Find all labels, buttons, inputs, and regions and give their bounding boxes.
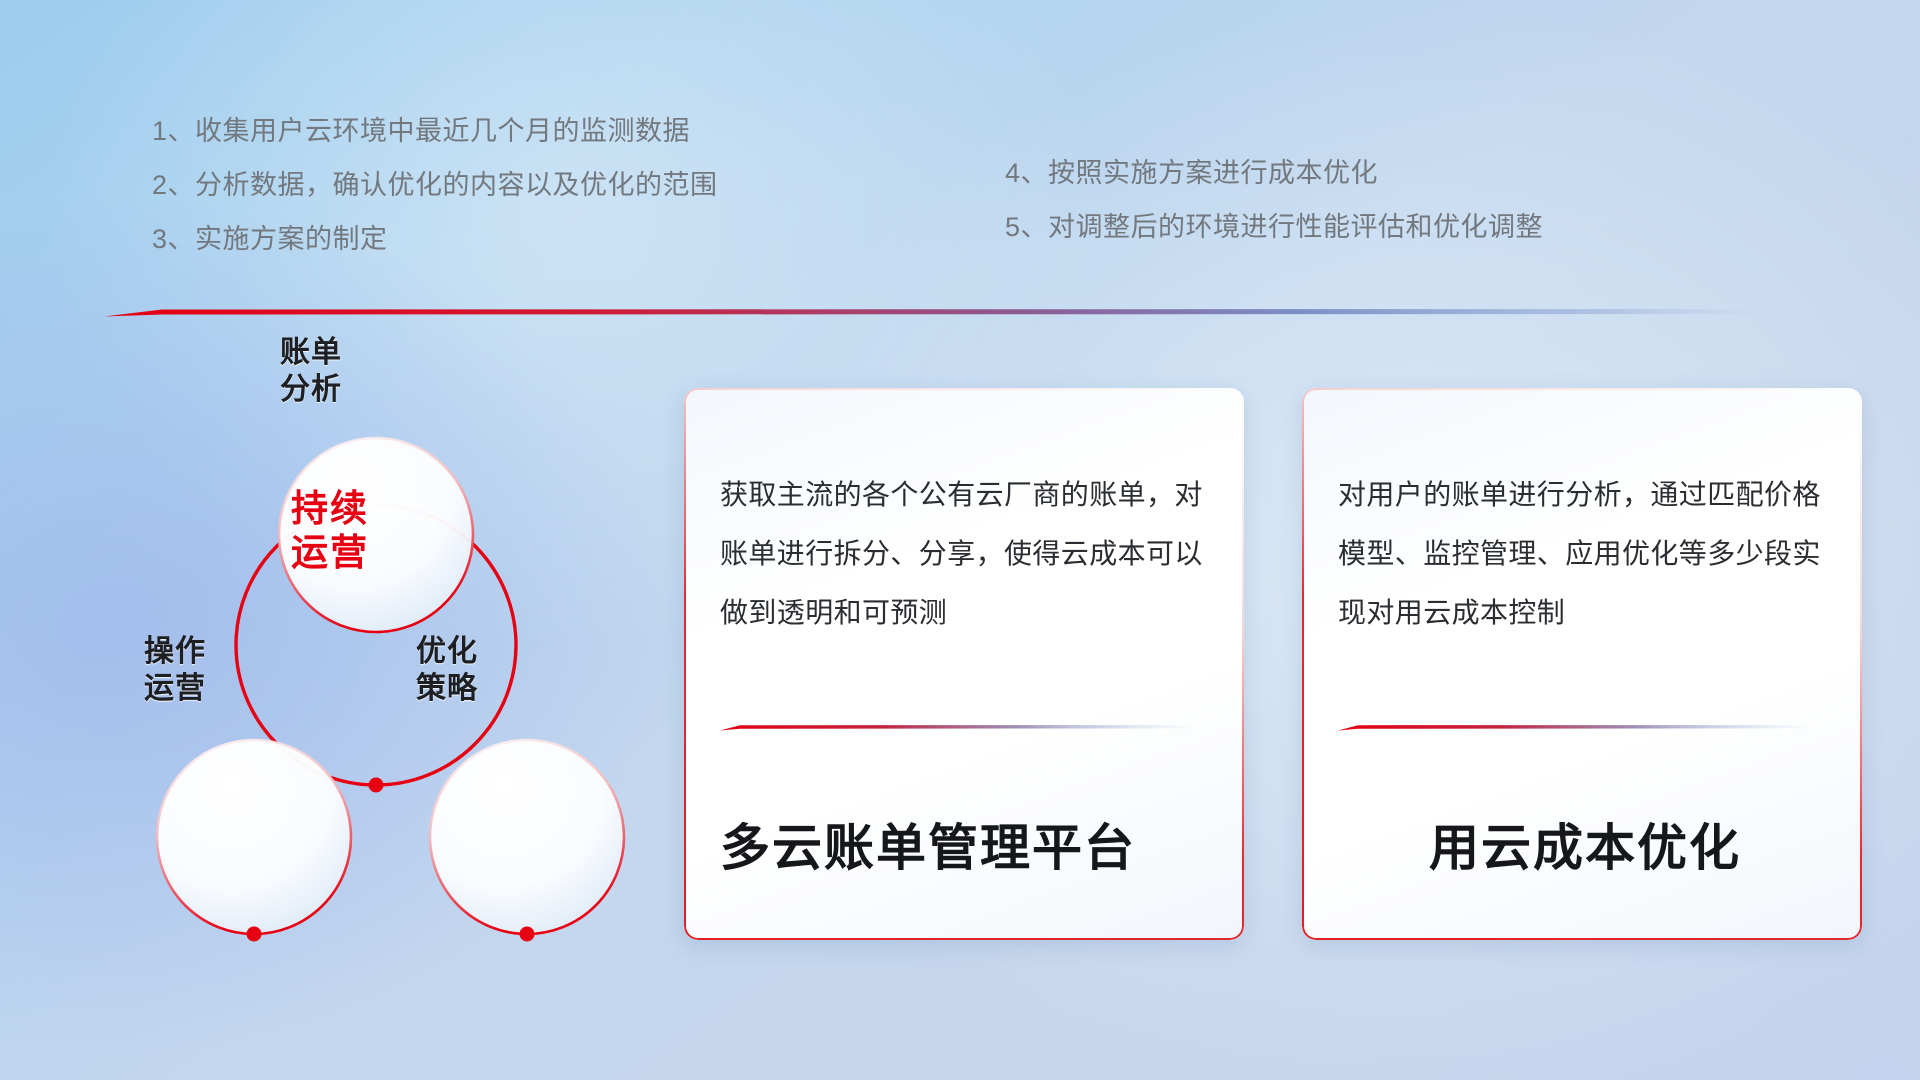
venn-center-label: 持续 运营 [250,487,410,576]
card-1-body-text: 获取主流的各个公有云厂商的账单，对账单进行拆分、分享，使得云成本可以做到透明和可… [720,466,1214,642]
card-2-rule [1338,724,1816,731]
step-item-3: 3、实施方案的制定 [152,226,718,253]
venn-center-label-line1: 持续 [250,487,410,531]
venn-label-operation: 操作 运营 [90,634,260,707]
slide-canvas: 1、收集用户云环境中最近几个月的监测数据 2、分析数据，确认优化的内容以及优化的… [0,0,1920,1080]
step-item-4: 4、按照实施方案进行成本优化 [1005,160,1543,187]
venn-label-bill-analysis-line2: 分析 [226,372,396,409]
card-cloud-cost-optimization[interactable]: 对用户的账单进行分析，通过匹配价格模型、监控管理、应用优化等多少段实现对用云成本… [1302,388,1862,940]
steps-right-column: 4、按照实施方案进行成本优化 5、对调整后的环境进行性能评估和优化调整 [1005,160,1543,268]
card-multi-cloud-billing-platform[interactable]: 获取主流的各个公有云厂商的账单，对账单进行拆分、分享，使得云成本可以做到透明和可… [684,388,1244,940]
venn-label-operation-line2: 运营 [90,671,260,708]
venn-center-label-line2: 运营 [250,531,410,575]
steps-left-column: 1、收集用户云环境中最近几个月的监测数据 2、分析数据，确认优化的内容以及优化的… [152,118,718,280]
venn-bubble-operation [157,740,351,934]
venn-label-optimization-line1: 优化 [362,634,532,671]
step-item-2: 2、分析数据，确认优化的内容以及优化的范围 [152,172,718,199]
card-2-title: 用云成本优化 [1338,808,1832,880]
venn-node-right [520,927,535,942]
venn-label-bill-analysis: 账单 分析 [226,335,396,408]
section-divider [104,305,1764,321]
venn-label-optimization-strategy: 优化 策略 [362,634,532,707]
venn-label-bill-analysis-line1: 账单 [226,335,396,372]
step-item-1: 1、收集用户云环境中最近几个月的监测数据 [152,118,718,145]
venn-bubble-optimization [430,740,624,934]
card-2-body-text: 对用户的账单进行分析，通过匹配价格模型、监控管理、应用优化等多少段实现对用云成本… [1338,466,1832,642]
card-1-title: 多云账单管理平台 [720,808,1214,880]
venn-node-left [247,927,262,942]
step-item-5: 5、对调整后的环境进行性能评估和优化调整 [1005,214,1543,241]
card-1-rule [720,724,1198,731]
venn-node-top [369,778,384,793]
venn-label-operation-line1: 操作 [90,634,260,671]
venn-label-optimization-line2: 策略 [362,671,532,708]
